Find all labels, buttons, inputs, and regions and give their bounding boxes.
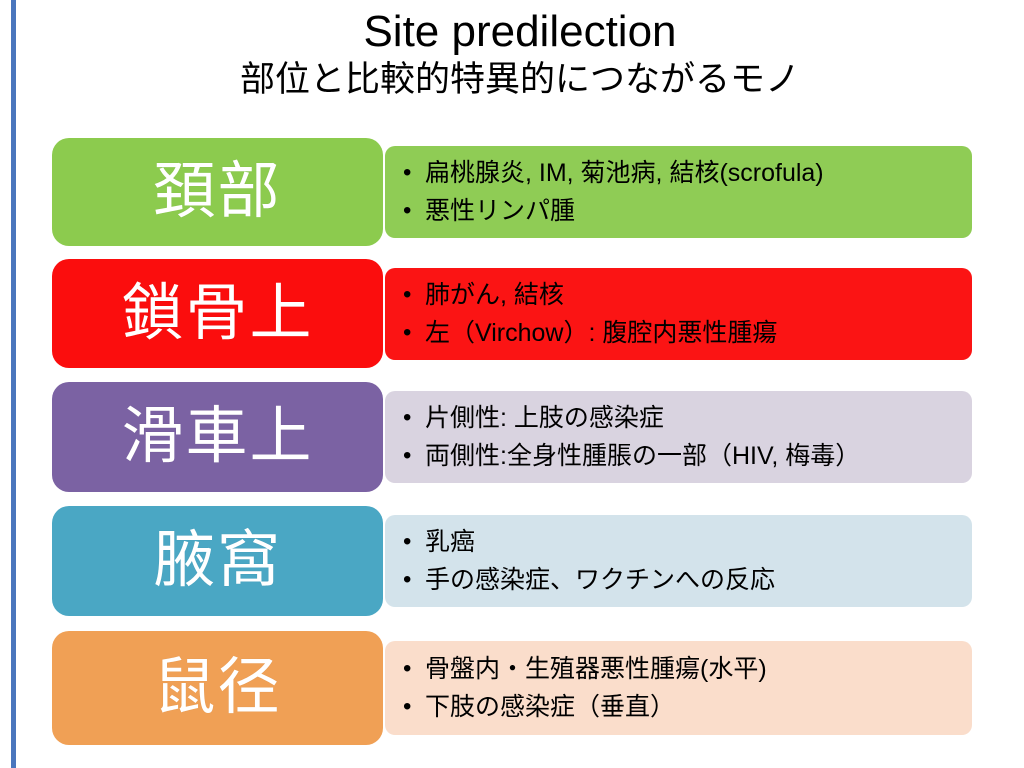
bullet-icon: • <box>403 276 425 314</box>
detail-panel-inguinal: • 骨盤内・生殖器悪性腫瘍(水平) • 下肢の感染症（垂直） <box>385 641 972 735</box>
list-item: • 手の感染症、ワクチンへの反応 <box>385 561 972 599</box>
detail-panel-epitrochlear: • 片側性: 上肢の感染症 • 両側性:全身性腫脹の一部（HIV, 梅毒） <box>385 391 972 483</box>
row-epitrochlear: 滑車上 • 片側性: 上肢の感染症 • 両側性:全身性腫脹の一部（HIV, 梅毒… <box>0 382 1024 492</box>
row-inguinal: 鼠径 • 骨盤内・生殖器悪性腫瘍(水平) • 下肢の感染症（垂直） <box>0 631 1024 745</box>
list-item: • 左（Virchow）: 腹腔内悪性腫瘍 <box>385 314 972 352</box>
site-label-epitrochlear[interactable]: 滑車上 <box>52 382 383 492</box>
row-cervical: 頚部 • 扁桃腺炎, IM, 菊池病, 結核(scrofula) • 悪性リンパ… <box>0 138 1024 246</box>
bullet-icon: • <box>403 561 425 599</box>
bullet-text: 両側性:全身性腫脹の一部（HIV, 梅毒） <box>425 437 972 475</box>
row-axillary: 腋窩 • 乳癌 • 手の感染症、ワクチンへの反応 <box>0 506 1024 616</box>
bullet-text: 左（Virchow）: 腹腔内悪性腫瘍 <box>425 314 972 352</box>
list-item: • 悪性リンパ腫 <box>385 192 972 230</box>
bullet-text: 下肢の感染症（垂直） <box>425 688 972 726</box>
bullet-text: 扁桃腺炎, IM, 菊池病, 結核(scrofula) <box>425 154 972 192</box>
bullet-text: 肺がん, 結核 <box>425 276 972 314</box>
detail-panel-supraclavicular: • 肺がん, 結核 • 左（Virchow）: 腹腔内悪性腫瘍 <box>385 268 972 360</box>
bullet-text: 骨盤内・生殖器悪性腫瘍(水平) <box>425 650 972 688</box>
list-item: • 乳癌 <box>385 523 972 561</box>
bullet-icon: • <box>403 650 425 688</box>
page-title: Site predilection <box>40 6 1000 58</box>
list-item: • 扁桃腺炎, IM, 菊池病, 結核(scrofula) <box>385 154 972 192</box>
site-label-cervical[interactable]: 頚部 <box>52 138 383 246</box>
site-label-text: 腋窩 <box>153 530 281 592</box>
bullet-icon: • <box>403 314 425 352</box>
list-item: • 骨盤内・生殖器悪性腫瘍(水平) <box>385 650 972 688</box>
site-label-text: 鼠径 <box>153 657 281 719</box>
detail-panel-cervical: • 扁桃腺炎, IM, 菊池病, 結核(scrofula) • 悪性リンパ腫 <box>385 146 972 238</box>
site-label-text: 鎖骨上 <box>121 283 313 345</box>
site-label-inguinal[interactable]: 鼠径 <box>52 631 383 745</box>
bullet-icon: • <box>403 192 425 230</box>
bullet-text: 悪性リンパ腫 <box>425 192 972 230</box>
page-subtitle: 部位と比較的特異的につながるモノ <box>40 58 1000 102</box>
list-item: • 下肢の感染症（垂直） <box>385 688 972 726</box>
bullet-text: 片側性: 上肢の感染症 <box>425 399 972 437</box>
bullet-icon: • <box>403 523 425 561</box>
bullet-icon: • <box>403 688 425 726</box>
list-item: • 肺がん, 結核 <box>385 276 972 314</box>
bullet-text: 手の感染症、ワクチンへの反応 <box>425 561 972 599</box>
site-label-axillary[interactable]: 腋窩 <box>52 506 383 616</box>
bullet-icon: • <box>403 154 425 192</box>
bullet-icon: • <box>403 399 425 437</box>
row-supraclavicular: 鎖骨上 • 肺がん, 結核 • 左（Virchow）: 腹腔内悪性腫瘍 <box>0 259 1024 368</box>
slide-canvas: Site predilection 部位と比較的特異的につながるモノ 頚部 • … <box>0 0 1024 768</box>
bullet-text: 乳癌 <box>425 523 972 561</box>
list-item: • 片側性: 上肢の感染症 <box>385 399 972 437</box>
bullet-icon: • <box>403 437 425 475</box>
slide-heading: Site predilection 部位と比較的特異的につながるモノ <box>40 6 1000 102</box>
list-item: • 両側性:全身性腫脹の一部（HIV, 梅毒） <box>385 437 972 475</box>
detail-panel-axillary: • 乳癌 • 手の感染症、ワクチンへの反応 <box>385 515 972 607</box>
site-label-text: 滑車上 <box>121 406 313 468</box>
site-label-supraclavicular[interactable]: 鎖骨上 <box>52 259 383 368</box>
site-label-text: 頚部 <box>153 161 281 223</box>
